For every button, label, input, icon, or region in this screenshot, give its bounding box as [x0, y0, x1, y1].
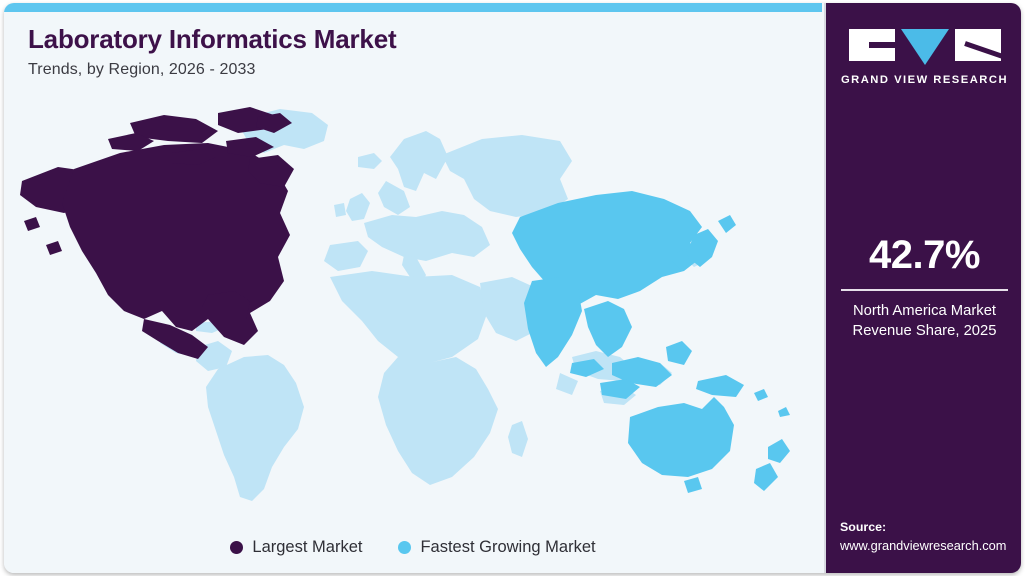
logo-g-icon — [849, 29, 895, 61]
world-map — [12, 95, 818, 505]
page-title: Laboratory Informatics Market — [28, 26, 668, 53]
page-subtitle: Trends, by Region, 2026 - 2033 — [28, 61, 668, 79]
source-url: www.grandviewresearch.com — [840, 537, 1020, 555]
legend-item-label: Largest Market — [252, 538, 362, 557]
legend-item-label: Fastest Growing Market — [420, 538, 595, 557]
source-block: Source: www.grandviewresearch.com — [840, 519, 1020, 555]
brand-logo: GRAND VIEW RESEARCH — [826, 29, 1021, 86]
side-panel: GRAND VIEW RESEARCH 42.7% North America … — [824, 3, 1021, 573]
logo-marks — [849, 29, 1001, 65]
stat-value: 42.7% — [836, 235, 1013, 275]
stat-caption-line-1: North America Market — [836, 301, 1013, 321]
stat-block: 42.7% North America Market Revenue Share… — [826, 235, 1021, 342]
map-legend: Largest Market Fastest Growing Market — [4, 538, 822, 557]
logo-triangle-icon — [901, 29, 949, 65]
dot-icon — [230, 541, 243, 554]
legend-item-fastest-growing-market: Fastest Growing Market — [398, 538, 595, 557]
logo-wordmark: GRAND VIEW RESEARCH — [841, 74, 1008, 86]
stat-divider — [841, 289, 1008, 291]
map-region-north-america — [20, 107, 294, 359]
top-accent-bar — [4, 3, 822, 12]
title-block: Laboratory Informatics Market Trends, by… — [28, 26, 668, 79]
map-region-asia-pacific — [512, 191, 790, 493]
source-label: Source: — [840, 519, 1020, 537]
logo-r-icon — [955, 29, 1001, 61]
stat-caption-line-2: Revenue Share, 2025 — [836, 321, 1013, 341]
map-pane: Laboratory Informatics Market Trends, by… — [4, 3, 822, 573]
dot-icon — [398, 541, 411, 554]
legend-item-largest-market: Largest Market — [230, 538, 362, 557]
infographic-card: Laboratory Informatics Market Trends, by… — [4, 3, 1021, 573]
stat-caption: North America Market Revenue Share, 2025 — [836, 301, 1013, 342]
